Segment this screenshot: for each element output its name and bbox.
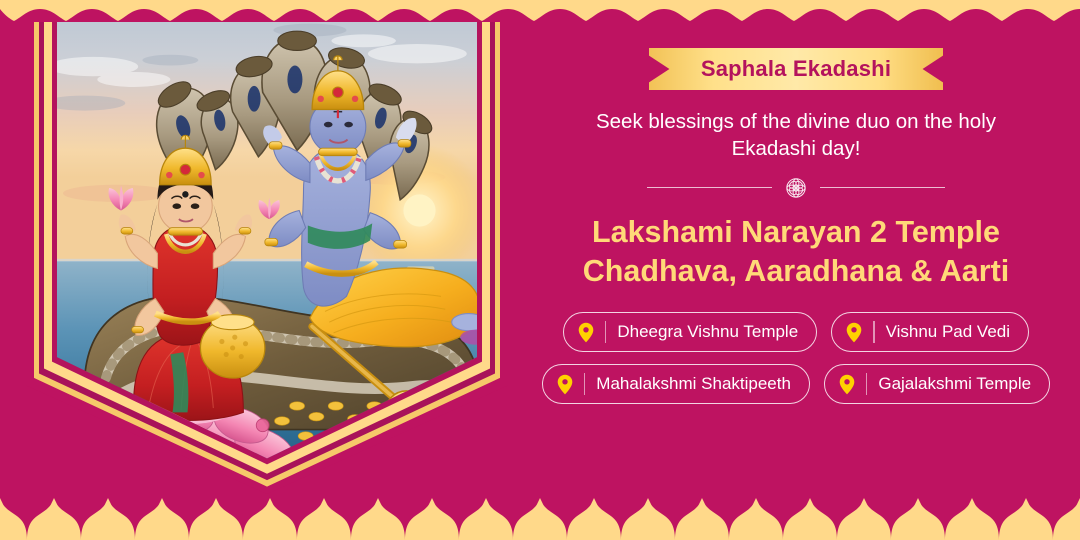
event-badge-wrap: Saphala Ekadashi	[649, 48, 943, 90]
temple-chip-2[interactable]: Vishnu Pad Vedi	[831, 312, 1029, 352]
page-title: Lakshami Narayan 2 Temple Chadhava, Aara…	[531, 213, 1061, 290]
location-pin-icon	[839, 374, 855, 395]
floral-rosette-icon	[784, 176, 808, 200]
chip-divider	[866, 373, 867, 395]
promotional-banner: Saphala Ekadashi Seek blessings of the d…	[0, 0, 1080, 540]
divider-line-left	[647, 187, 772, 188]
location-pin-icon	[578, 322, 594, 343]
chip-divider	[584, 373, 585, 395]
subtitle-text: Seek blessings of the divine duo on the …	[561, 108, 1031, 163]
temple-chip-label: Vishnu Pad Vedi	[886, 322, 1010, 342]
temple-chip-3[interactable]: Mahalakshmi Shaktipeeth	[542, 364, 810, 404]
chip-divider	[605, 321, 606, 343]
temple-chip-1[interactable]: Dheegra Vishnu Temple	[563, 312, 817, 352]
ornament-divider	[647, 175, 945, 201]
location-pin-icon	[557, 374, 573, 395]
location-pin-icon	[846, 322, 862, 343]
event-badge: Saphala Ekadashi	[649, 48, 943, 90]
event-badge-label: Saphala Ekadashi	[701, 56, 891, 82]
temple-chip-4[interactable]: Gajalakshmi Temple	[824, 364, 1050, 404]
temple-chip-label: Gajalakshmi Temple	[878, 374, 1031, 394]
divider-line-right	[820, 187, 945, 188]
chip-divider	[873, 321, 874, 343]
content-column: Saphala Ekadashi Seek blessings of the d…	[512, 0, 1080, 540]
temple-chip-label: Dheegra Vishnu Temple	[617, 322, 798, 342]
temple-chip-list: Dheegra Vishnu Temple Vishnu Pad Vedi Ma…	[512, 312, 1080, 404]
deity-image-panel	[26, 0, 508, 494]
temple-chip-label: Mahalakshmi Shaktipeeth	[596, 374, 791, 394]
